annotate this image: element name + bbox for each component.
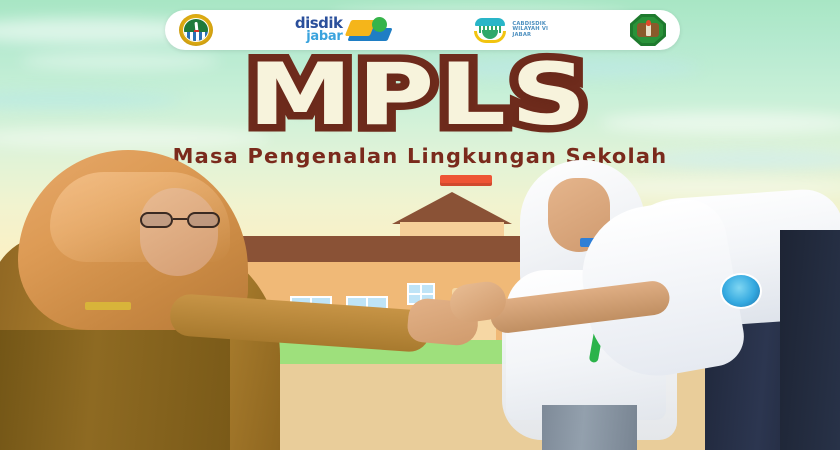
teacher-figure [0, 150, 310, 450]
disdik-wordmark: disdik jabar [295, 17, 343, 43]
logo-bar: disdik jabar CABDISDIK WILAYAH VI JABAR [165, 10, 680, 50]
cabdisdik-logo: CABDISDIK WILAYAH VI JABAR [473, 16, 548, 44]
center-gable-roof [392, 192, 512, 224]
disdik-line2: jabar [295, 31, 343, 43]
teacher-name-badge [85, 302, 131, 310]
page-title: MPLS [248, 52, 591, 138]
jabar-seal-icon [179, 14, 213, 46]
cabdisdik-text: CABDISDIK WILAYAH VI JABAR [512, 22, 548, 38]
teacher-skirt [0, 330, 230, 450]
disdik-mark-icon [348, 17, 392, 43]
teacher-face [140, 188, 218, 276]
school-badge-icon [720, 273, 762, 309]
disdik-jabar-logo: disdik jabar [295, 17, 392, 43]
school-flag [440, 175, 492, 186]
jabar-provincial-seal [179, 14, 213, 46]
school-emblem [630, 14, 666, 46]
glasses-icon [140, 212, 220, 228]
edge-figure [780, 230, 840, 450]
cabdisdik-line3: JABAR [512, 33, 548, 38]
school-emblem-icon [630, 14, 666, 46]
cabdisdik-mark-icon [473, 16, 507, 44]
mpls-poster: disdik jabar CABDISDIK WILAYAH VI JABAR [0, 0, 840, 450]
